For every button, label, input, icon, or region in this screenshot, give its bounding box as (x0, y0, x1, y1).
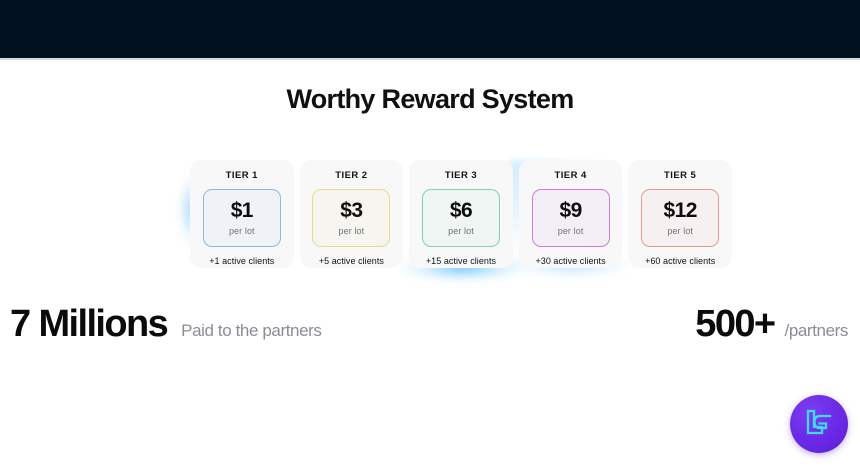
top-dark-bar (0, 0, 860, 58)
tier-label: TIER 1 (226, 170, 258, 181)
tier-clients: +60 active clients (645, 256, 715, 266)
tier-price-box: $9 per lot (532, 189, 610, 247)
tier-card[interactable]: TIER 5 $12 per lot +60 active clients (628, 160, 732, 268)
top-bar-separator (0, 58, 860, 60)
tier-unit: per lot (448, 226, 474, 236)
tier-clients: +1 active clients (209, 256, 274, 266)
lc-monogram-icon (802, 407, 836, 441)
tier-card-row: TIER 1 $1 per lot +1 active clients TIER… (190, 160, 732, 268)
tier-unit: per lot (229, 226, 255, 236)
stat-value: 500+ (695, 305, 774, 343)
stat-caption: /partners (785, 322, 849, 339)
stat-paid-to-partners: 7 Millions Paid to the partners (10, 305, 322, 343)
tier-clients: +30 active clients (535, 256, 605, 266)
tier-unit: per lot (558, 226, 584, 236)
stat-value: 7 Millions (10, 305, 167, 343)
tier-price-box: $6 per lot (422, 189, 500, 247)
tier-card[interactable]: TIER 1 $1 per lot +1 active clients (190, 160, 294, 268)
tier-price-box: $12 per lot (641, 189, 719, 247)
tier-card[interactable]: TIER 3 $6 per lot +15 active clients (409, 160, 513, 268)
slide-root: Worthy Reward System TIER 1 $1 per lot +… (0, 0, 860, 467)
tier-label: TIER 3 (445, 170, 477, 181)
tier-price: $1 (231, 200, 253, 221)
tier-label: TIER 2 (335, 170, 367, 181)
tier-price: $3 (340, 200, 362, 221)
tier-unit: per lot (339, 226, 365, 236)
tier-price: $6 (450, 200, 472, 221)
tier-price: $12 (664, 200, 697, 221)
tier-unit: per lot (667, 226, 693, 236)
page-title: Worthy Reward System (0, 84, 860, 115)
lc-monogram-logo[interactable] (790, 395, 848, 453)
tier-label: TIER 4 (554, 170, 586, 181)
stat-partners-count: 500+ /partners (695, 305, 848, 343)
tier-label: TIER 5 (664, 170, 696, 181)
tier-price-box: $1 per lot (203, 189, 281, 247)
tier-card[interactable]: TIER 2 $3 per lot +5 active clients (300, 160, 404, 268)
tier-card[interactable]: TIER 4 $9 per lot +30 active clients (519, 160, 623, 268)
stat-caption: Paid to the partners (181, 322, 321, 339)
tier-clients: +15 active clients (426, 256, 496, 266)
tier-price: $9 (559, 200, 581, 221)
tier-clients: +5 active clients (319, 256, 384, 266)
tier-price-box: $3 per lot (312, 189, 390, 247)
